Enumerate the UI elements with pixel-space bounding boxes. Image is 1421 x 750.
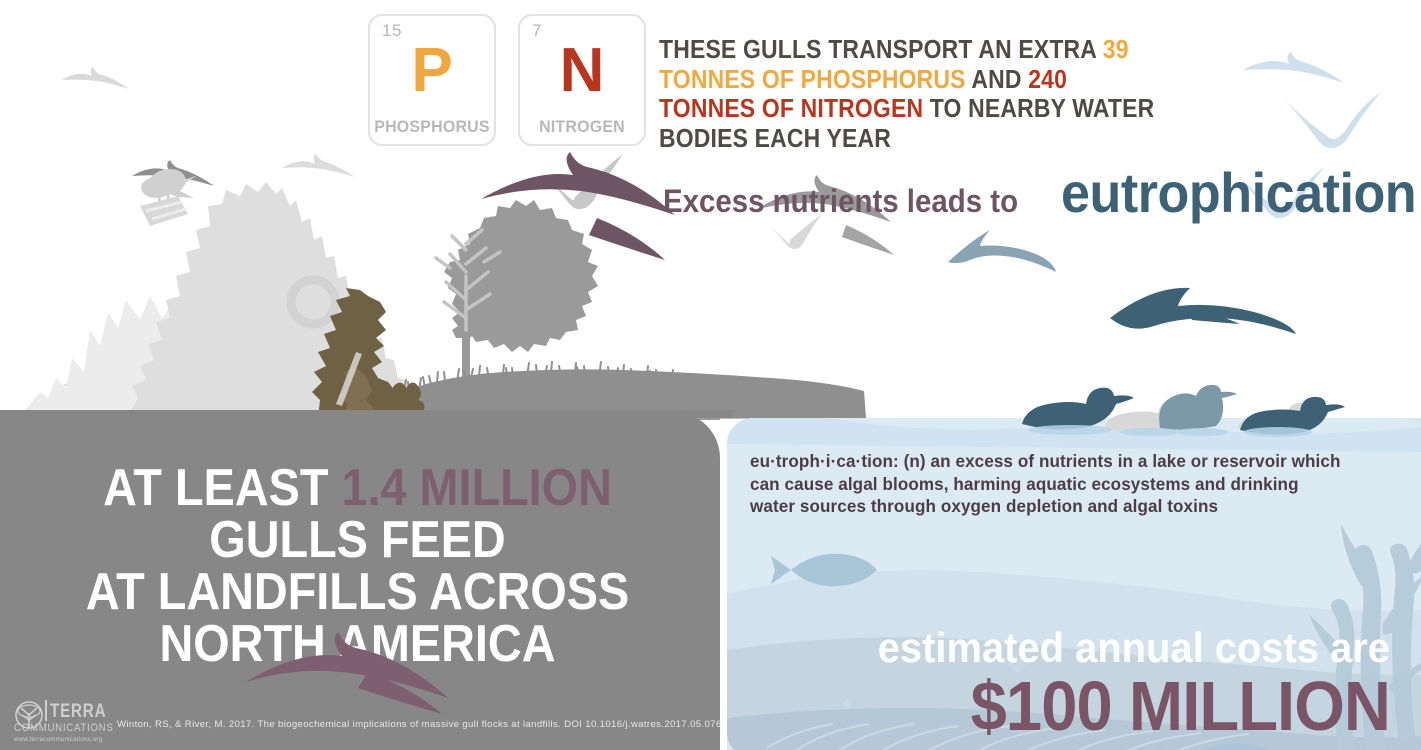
landfill-stat-line-1: AT LEAST 1.4 MILLION GULLS FEED xyxy=(36,462,680,566)
landfill-stat-line1-b: GULLS FEED xyxy=(209,511,505,569)
terra-communications-logo: TERRA COMMUNICATIONS www.terracommunicat… xyxy=(14,700,114,746)
duck-icon xyxy=(1159,385,1237,430)
nutrient-transport-headline: THESE GULLS TRANSPORT AN EXTRA 39 TONNES… xyxy=(659,36,1163,154)
element-tiles: 15 P PHOSPHORUS 7 N NITROGEN xyxy=(368,14,658,150)
eutrophication-headline: Excess nutrients leads toeutrophication xyxy=(663,160,1421,225)
element-tile-phosphorus: 15 P PHOSPHORUS xyxy=(368,14,496,146)
eutrophication-lead: Excess nutrients leads to xyxy=(663,183,1018,220)
element-symbol: P xyxy=(370,40,494,102)
tree-icon xyxy=(436,200,598,396)
landfill-stat-line1-a: AT LEAST xyxy=(103,459,341,517)
flying-gull-icon xyxy=(1110,288,1296,334)
logo-subtitle: COMMUNICATIONS xyxy=(14,722,113,734)
infographic-canvas: AT LEAST 1.4 MILLION GULLS FEED AT LANDF… xyxy=(0,0,1421,750)
logo-name: TERRA xyxy=(50,701,106,723)
headline-part-2: AND xyxy=(966,66,1029,94)
annual-costs-block: estimated annual costs are $100 MILLION xyxy=(770,625,1390,741)
source-citation: Winton, RS, & River, M. 2017. The biogeo… xyxy=(117,719,722,730)
crate-icon xyxy=(140,196,188,226)
element-name: NITROGEN xyxy=(524,117,641,137)
eutrophication-term: eutrophication xyxy=(1061,160,1416,225)
element-name: PHOSPHORUS xyxy=(374,117,491,137)
flying-gull-icon xyxy=(948,230,1056,272)
element-number: 15 xyxy=(382,21,402,41)
element-tile-nitrogen: 7 N NITROGEN xyxy=(518,14,646,146)
logo-divider xyxy=(45,700,47,721)
annual-costs-amount: $100 MILLION xyxy=(813,671,1390,741)
element-symbol: N xyxy=(520,40,644,102)
flying-gull-icon xyxy=(240,636,490,716)
waterfowl-group xyxy=(1010,388,1310,434)
landfill-stat-line-2: AT LANDFILLS ACROSS xyxy=(36,566,680,618)
eutrophication-definition: eu·troph·i·ca·tion: (n) an excess of nut… xyxy=(750,450,1344,518)
logo-url: www.terracommunications.org xyxy=(14,736,102,743)
landfill-stat-highlight: 1.4 MILLION xyxy=(341,459,611,517)
element-number: 7 xyxy=(532,21,542,41)
annual-costs-label: estimated annual costs are xyxy=(801,625,1390,671)
headline-part-1: THESE GULLS TRANSPORT AN EXTRA xyxy=(659,36,1103,64)
